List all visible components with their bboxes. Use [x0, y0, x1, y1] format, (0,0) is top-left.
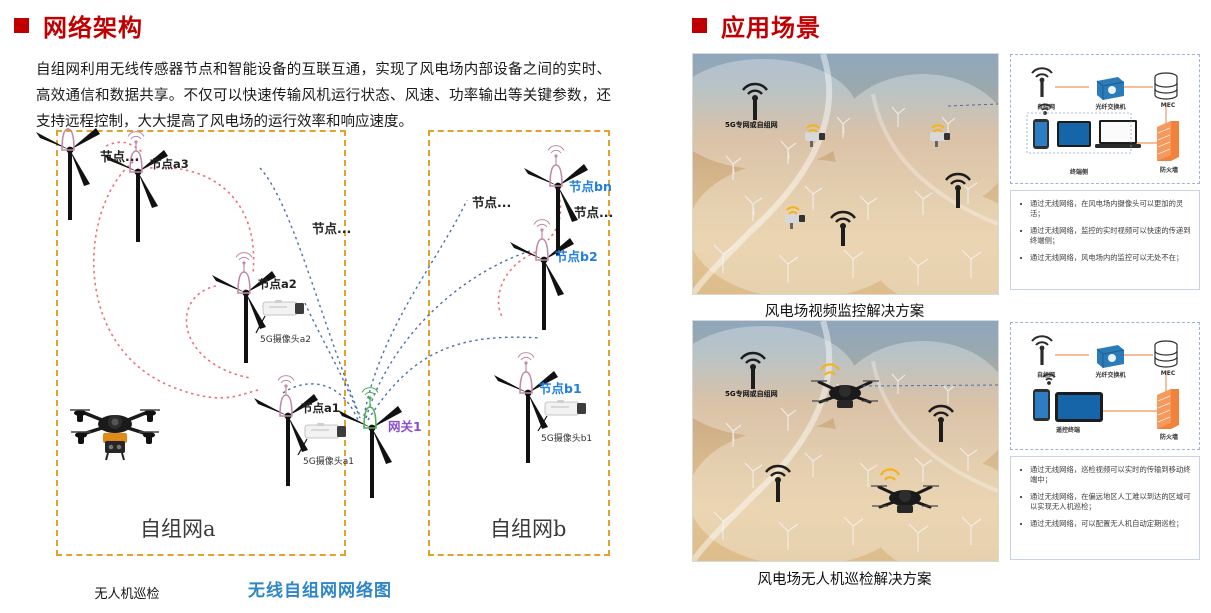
scene2-caption: 风电场无人机巡检解决方案: [692, 568, 997, 589]
section-header-network: 网络架构: [14, 8, 143, 43]
node-label-ellipsis-mid: 节点...: [312, 218, 351, 237]
list-item: 通过无线网络，监控的实时视频可以快速的传递到终端侧；: [1017, 226, 1192, 246]
camera-label-b1: 5G摄像头b1: [541, 431, 592, 444]
windfarm-photo-surveillance: 5G专网或自组网: [692, 53, 999, 295]
scene1-caption: 风电场视频监控解决方案: [692, 300, 997, 321]
network-architecture-panel: 网络架构 自组网利用无线传感器节点和智能设备的互联互通，实现了风电场内部设备之间…: [0, 0, 640, 613]
bullet-square-icon: [692, 18, 707, 33]
card1-label-firewall: 防火墙: [1153, 165, 1185, 174]
wireless-mesh-diagram: 自组网a 自组网b: [20, 128, 620, 563]
card2-label-firewall: 防火墙: [1153, 432, 1185, 441]
node-label-ellipsis-b2: 节点...: [574, 202, 613, 221]
surveillance-benefits-list: 通过无线网络，在风电场内摄像头可以更加的灵活； 通过无线网络，监控的实时视频可以…: [1010, 190, 1200, 290]
scenarios-title: 应用场景: [721, 8, 821, 43]
list-item: 通过无线网络，在偏远地区人工难以到达的区域可以实现无人机巡检；: [1017, 492, 1192, 512]
section-header-scenarios: 应用场景: [692, 8, 821, 43]
card2-label-mec: MEC: [1156, 370, 1180, 377]
bullet-square-icon: [14, 18, 29, 33]
photo2-network-label: 5G专网或自组网: [725, 389, 778, 399]
drone-benefits-list: 通过无线网络，巡检视频可以实时的传输到移动终端中； 通过无线网络，在偏远地区人工…: [1010, 456, 1200, 560]
photo1-network-label: 5G专网或自组网: [725, 120, 778, 130]
node-label-ellipsis-b1: 节点...: [472, 192, 511, 211]
list-item: 通过无线网络，风电场内的监控可以无处不在；: [1017, 253, 1192, 263]
drone-topology-card: 自组网 光纤交换机 MEC 防火墙 遥控终端: [1010, 322, 1200, 450]
camera-label-a1: 5G摄像头a1: [303, 454, 354, 467]
card1-label-terminal: 终端侧: [1063, 167, 1095, 176]
camera-label-a2: 5G摄像头a2: [260, 332, 311, 345]
diagram-caption: 无线自组网网络图: [0, 576, 640, 601]
list-item: 通过无线网络，可以配置无人机自动定期巡检；: [1017, 519, 1192, 529]
application-scenarios-panel: 应用场景: [640, 0, 1211, 613]
card1-label-mec: MEC: [1156, 102, 1180, 109]
card1-label-network: 自组网: [1031, 102, 1061, 111]
list-item: 通过无线网络，巡检视频可以实时的传输到移动终端中；: [1017, 465, 1192, 485]
node-label-b1: 节点b1: [539, 378, 582, 397]
card1-label-switch: 光纤交换机: [1088, 102, 1133, 111]
card2-label-terminal: 遥控终端: [1044, 425, 1092, 434]
windfarm-photo-drone: 5G专网或自组网: [692, 320, 999, 562]
card2-label-network: 自组网: [1031, 370, 1061, 379]
node-label-b2: 节点b2: [555, 246, 598, 265]
page-title: 网络架构: [43, 8, 143, 43]
node-label-ellipsis-a: 节点...: [100, 146, 139, 165]
node-label-a2: 节点a2: [258, 276, 297, 292]
node-label-a1: 节点a1: [301, 400, 340, 416]
intro-paragraph: 自组网利用无线传感器节点和智能设备的互联互通，实现了风电场内部设备之间的实时、高…: [36, 57, 611, 135]
card2-label-switch: 光纤交换机: [1088, 370, 1133, 379]
diagram-artwork: [20, 128, 620, 563]
list-item: 通过无线网络，在风电场内摄像头可以更加的灵活；: [1017, 199, 1192, 219]
surveillance-topology-card: 自组网 光纤交换机 MEC 防火墙 终端侧: [1010, 54, 1200, 184]
node-label-a3: 节点a3: [150, 156, 189, 172]
node-label-bn: 节点bn: [569, 176, 612, 195]
gateway-label-1: 网关1: [388, 416, 422, 435]
